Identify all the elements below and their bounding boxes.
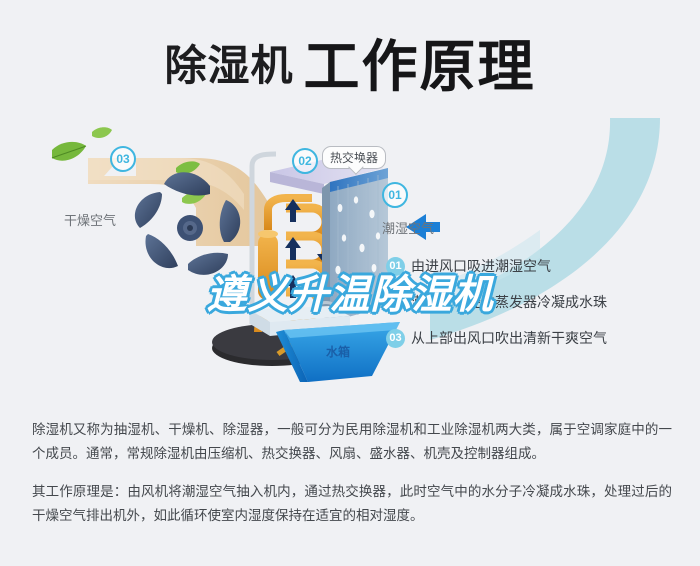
page-title: 除湿机工作原理 bbox=[0, 22, 700, 103]
heat-exchanger-callout: 热交换器 bbox=[322, 146, 386, 169]
step-number-01: 01 bbox=[386, 257, 405, 276]
evaporator bbox=[322, 168, 388, 322]
step-text-03: 从上部出风口吹出清新干爽空气 bbox=[411, 328, 607, 348]
humid-air-label: 潮湿空气 bbox=[382, 218, 434, 237]
dry-air-label: 干燥空气 bbox=[64, 210, 116, 229]
step-item-03: 03 从上部出风口吹出清新干爽空气 bbox=[386, 320, 686, 356]
step-number-02: 02 bbox=[386, 293, 405, 312]
infographic-page: 除湿机工作原理 bbox=[0, 0, 700, 566]
page-title-part1: 除湿机 bbox=[164, 42, 293, 89]
step-item-01: 01 由进风口吸进潮湿空气 bbox=[386, 248, 686, 284]
step-list: 01 由进风口吸进潮湿空气 02 潮湿空气经过蒸发器冷凝成水珠 03 从上部出风… bbox=[386, 248, 686, 356]
step-text-02: 潮湿空气经过蒸发器冷凝成水珠 bbox=[411, 292, 607, 312]
badge-02: 02 bbox=[292, 148, 318, 174]
badge-03: 03 bbox=[110, 146, 136, 172]
body-paragraph-1: 除湿机又称为抽湿机、干燥机、除湿器，一般可分为民用除湿机和工业除湿机两大类，属于… bbox=[32, 418, 672, 466]
badge-01: 01 bbox=[382, 182, 408, 208]
water-tank-label: 水箱 bbox=[326, 343, 350, 360]
step-number-03: 03 bbox=[386, 329, 405, 348]
body-paragraph-2: 其工作原理是：由风机将潮湿空气抽入机内，通过热交换器，此时空气中的水分子冷凝成水… bbox=[32, 480, 672, 528]
step-text-01: 由进风口吸进潮湿空气 bbox=[411, 256, 551, 276]
step-item-02: 02 潮湿空气经过蒸发器冷凝成水珠 bbox=[386, 284, 686, 320]
page-title-part2: 工作原理 bbox=[304, 35, 536, 98]
body-copy: 除湿机又称为抽湿机、干燥机、除湿器，一般可分为民用除湿机和工业除湿机两大类，属于… bbox=[32, 418, 672, 542]
